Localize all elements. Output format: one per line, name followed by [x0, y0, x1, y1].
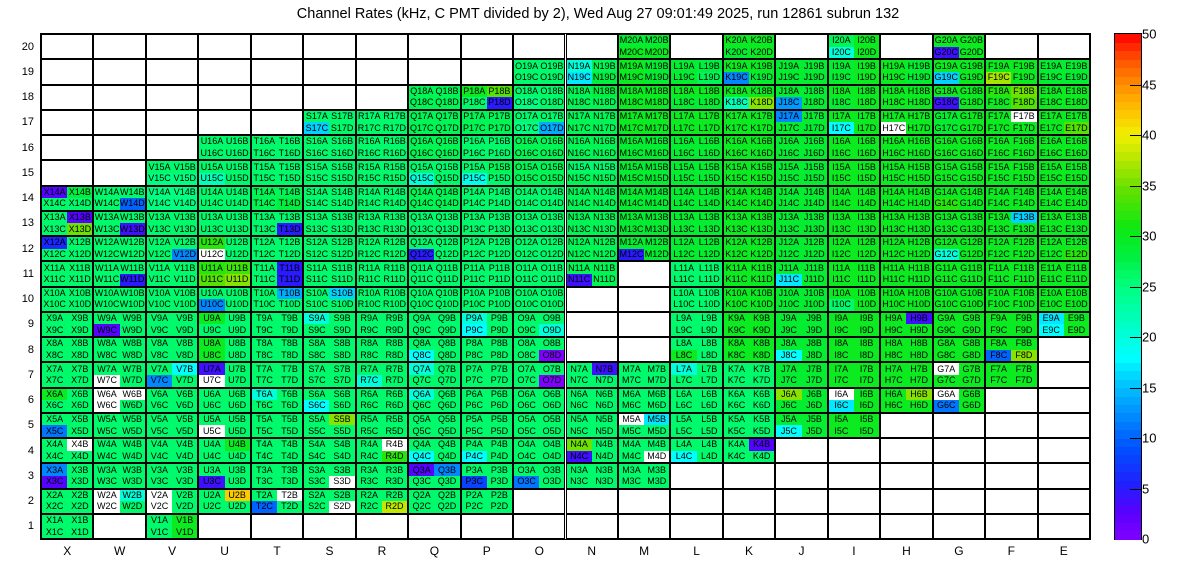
- channel-quadrant[interactable]: O5C: [514, 425, 539, 437]
- channel-quadrant[interactable]: K5A: [724, 414, 749, 426]
- channel-quadrant[interactable]: R8B: [382, 338, 407, 350]
- channel-quadrant[interactable]: K12A: [724, 237, 749, 249]
- channel-cell[interactable]: T14AT14BT14CT14D: [251, 186, 303, 211]
- channel-quadrant[interactable]: L16A: [671, 136, 696, 148]
- channel-cell[interactable]: T4AT4BT4CT4D: [251, 438, 303, 463]
- channel-quadrant[interactable]: R14B: [382, 187, 407, 199]
- channel-quadrant[interactable]: R9A: [357, 313, 382, 325]
- channel-quadrant[interactable]: R7B: [382, 363, 407, 375]
- channel-quadrant[interactable]: K11B: [749, 262, 774, 274]
- channel-quadrant[interactable]: G13D: [959, 223, 984, 235]
- channel-quadrant[interactable]: G10A: [934, 288, 959, 300]
- channel-quadrant[interactable]: M15D: [644, 173, 669, 185]
- channel-cell[interactable]: L18AL18BL18CL18D: [670, 85, 722, 110]
- channel-quadrant[interactable]: X1A: [42, 515, 67, 527]
- channel-quadrant[interactable]: E14B: [1064, 187, 1089, 199]
- channel-quadrant[interactable]: I5B: [854, 414, 879, 426]
- channel-quadrant[interactable]: P11B: [487, 262, 512, 274]
- channel-quadrant[interactable]: W3D: [120, 476, 145, 488]
- channel-quadrant[interactable]: W2D: [120, 501, 145, 513]
- channel-quadrant[interactable]: T11C: [252, 274, 277, 286]
- channel-quadrant[interactable]: Q11D: [434, 274, 459, 286]
- channel-quadrant[interactable]: G7B: [959, 363, 984, 375]
- channel-cell[interactable]: E19AE19BE19CE19D: [1038, 59, 1090, 84]
- channel-quadrant[interactable]: M14B: [644, 187, 669, 199]
- channel-quadrant[interactable]: O19C: [514, 72, 539, 84]
- channel-quadrant[interactable]: G17D: [959, 122, 984, 134]
- channel-cell[interactable]: W3AW3BW3CW3D: [93, 463, 145, 488]
- channel-cell[interactable]: O17AO17BO17CO17D: [513, 110, 565, 135]
- channel-quadrant[interactable]: F16A: [986, 136, 1011, 148]
- channel-quadrant[interactable]: P4A: [462, 439, 487, 451]
- channel-quadrant[interactable]: X7B: [67, 363, 92, 375]
- channel-quadrant[interactable]: N11A: [567, 262, 592, 274]
- channel-cell[interactable]: S6AS6BS6CS6D: [303, 388, 355, 413]
- channel-quadrant[interactable]: J17B: [802, 111, 827, 123]
- channel-quadrant[interactable]: S6B: [329, 389, 354, 401]
- channel-quadrant[interactable]: F18C: [986, 97, 1011, 109]
- channel-quadrant[interactable]: G10D: [959, 299, 984, 311]
- channel-quadrant[interactable]: V12D: [172, 249, 197, 261]
- channel-quadrant[interactable]: J17D: [802, 122, 827, 134]
- channel-cell[interactable]: Q16AQ16BQ16CQ16D: [408, 135, 460, 160]
- channel-quadrant[interactable]: R16B: [382, 136, 407, 148]
- channel-quadrant[interactable]: L4B: [697, 439, 722, 451]
- channel-quadrant[interactable]: F13A: [986, 212, 1011, 224]
- channel-cell[interactable]: L12AL12BL12CL12D: [670, 236, 722, 261]
- channel-quadrant[interactable]: P15D: [487, 173, 512, 185]
- channel-quadrant[interactable]: N12B: [592, 237, 617, 249]
- channel-quadrant[interactable]: Q7C: [409, 375, 434, 387]
- channel-quadrant[interactable]: R12A: [357, 237, 382, 249]
- channel-quadrant[interactable]: G17A: [934, 111, 959, 123]
- channel-quadrant[interactable]: G9C: [934, 324, 959, 336]
- channel-quadrant[interactable]: V4D: [172, 451, 197, 463]
- channel-quadrant[interactable]: W10D: [120, 299, 145, 311]
- channel-quadrant[interactable]: R13C: [357, 223, 382, 235]
- channel-quadrant[interactable]: O15A: [514, 161, 539, 173]
- channel-quadrant[interactable]: M20C: [619, 47, 644, 59]
- channel-quadrant[interactable]: P17B: [487, 111, 512, 123]
- channel-quadrant[interactable]: J7A: [776, 363, 801, 375]
- channel-quadrant[interactable]: W11C: [94, 274, 119, 286]
- channel-quadrant[interactable]: O12C: [514, 249, 539, 261]
- channel-quadrant[interactable]: S3C: [304, 476, 329, 488]
- channel-quadrant[interactable]: H10C: [881, 299, 906, 311]
- channel-cell[interactable]: U13AU13BU13CU13D: [198, 211, 250, 236]
- channel-quadrant[interactable]: O5B: [539, 414, 564, 426]
- channel-quadrant[interactable]: N13C: [567, 223, 592, 235]
- channel-quadrant[interactable]: F7C: [986, 375, 1011, 387]
- channel-quadrant[interactable]: T3B: [277, 464, 302, 476]
- channel-quadrant[interactable]: F9C: [986, 324, 1011, 336]
- channel-quadrant[interactable]: I7A: [829, 363, 854, 375]
- channel-quadrant[interactable]: U13D: [225, 223, 250, 235]
- channel-cell[interactable]: F16AF16BF16CF16D: [985, 135, 1037, 160]
- channel-quadrant[interactable]: L11B: [697, 262, 722, 274]
- channel-quadrant[interactable]: O14B: [539, 187, 564, 199]
- channel-quadrant[interactable]: M12A: [619, 237, 644, 249]
- channel-quadrant[interactable]: U5A: [199, 414, 224, 426]
- channel-quadrant[interactable]: I17C: [829, 122, 854, 134]
- channel-quadrant[interactable]: I12C: [829, 249, 854, 261]
- channel-quadrant[interactable]: U8B: [225, 338, 250, 350]
- channel-quadrant[interactable]: U10C: [199, 299, 224, 311]
- channel-quadrant[interactable]: L6C: [671, 400, 696, 412]
- channel-quadrant[interactable]: W10B: [120, 288, 145, 300]
- channel-quadrant[interactable]: T13D: [277, 223, 302, 235]
- channel-quadrant[interactable]: S5B: [329, 414, 354, 426]
- channel-quadrant[interactable]: I6C: [829, 400, 854, 412]
- channel-cell[interactable]: J11AJ11BJ11CJ11D: [775, 261, 827, 286]
- channel-quadrant[interactable]: O13C: [514, 223, 539, 235]
- channel-quadrant[interactable]: Q18B: [434, 86, 459, 98]
- channel-quadrant[interactable]: N18A: [567, 86, 592, 98]
- channel-cell[interactable]: T10AT10BT10CT10D: [251, 287, 303, 312]
- channel-quadrant[interactable]: H14A: [881, 187, 906, 199]
- channel-cell[interactable]: P15AP15BP15CP15D: [461, 160, 513, 185]
- channel-quadrant[interactable]: S10B: [329, 288, 354, 300]
- channel-quadrant[interactable]: G18B: [959, 86, 984, 98]
- channel-quadrant[interactable]: L6D: [697, 400, 722, 412]
- channel-quadrant[interactable]: J19C: [776, 72, 801, 84]
- channel-quadrant[interactable]: X13C: [42, 223, 67, 235]
- channel-quadrant[interactable]: G12D: [959, 249, 984, 261]
- channel-quadrant[interactable]: J16B: [802, 136, 827, 148]
- channel-quadrant[interactable]: F14A: [986, 187, 1011, 199]
- channel-quadrant[interactable]: I19B: [854, 60, 879, 72]
- channel-quadrant[interactable]: G11A: [934, 262, 959, 274]
- channel-quadrant[interactable]: V4A: [147, 439, 172, 451]
- channel-quadrant[interactable]: E17B: [1064, 111, 1089, 123]
- channel-cell[interactable]: S16AS16BS16CS16D: [303, 135, 355, 160]
- channel-quadrant[interactable]: I11C: [829, 274, 854, 286]
- channel-cell[interactable]: K14AK14BK14CK14D: [723, 186, 775, 211]
- channel-quadrant[interactable]: N15C: [567, 173, 592, 185]
- channel-quadrant[interactable]: O19A: [514, 60, 539, 72]
- channel-quadrant[interactable]: H19A: [881, 60, 906, 72]
- channel-quadrant[interactable]: Q9D: [434, 324, 459, 336]
- channel-quadrant[interactable]: U2C: [199, 501, 224, 513]
- channel-quadrant[interactable]: H14B: [906, 187, 931, 199]
- channel-quadrant[interactable]: Q3D: [434, 476, 459, 488]
- channel-quadrant[interactable]: V14A: [147, 187, 172, 199]
- channel-quadrant[interactable]: K17D: [749, 122, 774, 134]
- channel-quadrant[interactable]: O11C: [514, 274, 539, 286]
- channel-quadrant[interactable]: K20C: [724, 47, 749, 59]
- channel-cell[interactable]: E13AE13BE13CE13D: [1038, 211, 1090, 236]
- channel-quadrant[interactable]: S12D: [329, 249, 354, 261]
- channel-quadrant[interactable]: V1A: [147, 515, 172, 527]
- channel-quadrant[interactable]: T16C: [252, 148, 277, 160]
- channel-quadrant[interactable]: P4C: [462, 451, 487, 463]
- channel-cell[interactable]: R3AR3BR3CR3D: [356, 463, 408, 488]
- channel-quadrant[interactable]: L17B: [697, 111, 722, 123]
- channel-quadrant[interactable]: V10A: [147, 288, 172, 300]
- channel-cell[interactable]: K15AK15BK15CK15D: [723, 160, 775, 185]
- channel-cell[interactable]: N5AN5BN5CN5D: [566, 413, 618, 438]
- channel-quadrant[interactable]: N11B: [592, 262, 617, 274]
- channel-quadrant[interactable]: S17C: [304, 122, 329, 134]
- channel-quadrant[interactable]: F17A: [986, 111, 1011, 123]
- channel-quadrant[interactable]: J14C: [776, 198, 801, 210]
- channel-quadrant[interactable]: I5C: [829, 425, 854, 437]
- channel-cell[interactable]: K12AK12BK12CK12D: [723, 236, 775, 261]
- channel-quadrant[interactable]: O3D: [539, 476, 564, 488]
- channel-quadrant[interactable]: K7D: [749, 375, 774, 387]
- channel-quadrant[interactable]: G18D: [959, 97, 984, 109]
- channel-quadrant[interactable]: E18B: [1064, 86, 1089, 98]
- channel-quadrant[interactable]: W9A: [94, 313, 119, 325]
- channel-quadrant[interactable]: E12C: [1039, 249, 1064, 261]
- channel-quadrant[interactable]: S14A: [304, 187, 329, 199]
- channel-quadrant[interactable]: E10D: [1064, 299, 1089, 311]
- channel-quadrant[interactable]: J18B: [802, 86, 827, 98]
- channel-cell[interactable]: L19AL19BL19CL19D: [670, 59, 722, 84]
- channel-quadrant[interactable]: X8D: [67, 350, 92, 362]
- channel-quadrant[interactable]: R7C: [357, 375, 382, 387]
- channel-quadrant[interactable]: R4C: [357, 451, 382, 463]
- channel-quadrant[interactable]: N14D: [592, 198, 617, 210]
- channel-quadrant[interactable]: P3C: [462, 476, 487, 488]
- channel-quadrant[interactable]: T15C: [252, 173, 277, 185]
- channel-quadrant[interactable]: I6A: [829, 389, 854, 401]
- channel-quadrant[interactable]: U12D: [225, 249, 250, 261]
- channel-quadrant[interactable]: Q3B: [434, 464, 459, 476]
- channel-quadrant[interactable]: I11D: [854, 274, 879, 286]
- channel-quadrant[interactable]: X11B: [67, 262, 92, 274]
- channel-cell[interactable]: K11AK11BK11CK11D: [723, 261, 775, 286]
- channel-quadrant[interactable]: I13A: [829, 212, 854, 224]
- channel-quadrant[interactable]: G11B: [959, 262, 984, 274]
- channel-quadrant[interactable]: H18D: [906, 97, 931, 109]
- channel-quadrant[interactable]: J11D: [802, 274, 827, 286]
- channel-cell[interactable]: F12AF12BF12CF12D: [985, 236, 1037, 261]
- channel-quadrant[interactable]: N5A: [567, 414, 592, 426]
- channel-cell[interactable]: T5AT5BT5CT5D: [251, 413, 303, 438]
- channel-quadrant[interactable]: F13C: [986, 223, 1011, 235]
- channel-quadrant[interactable]: G20C: [934, 47, 959, 59]
- channel-cell[interactable]: W12AW12BW12CW12D: [93, 236, 145, 261]
- channel-quadrant[interactable]: R5B: [382, 414, 407, 426]
- channel-cell[interactable]: P2AP2BP2CP2D: [461, 489, 513, 514]
- channel-quadrant[interactable]: P13B: [487, 212, 512, 224]
- channel-quadrant[interactable]: X9D: [67, 324, 92, 336]
- channel-quadrant[interactable]: O18B: [539, 86, 564, 98]
- channel-quadrant[interactable]: O3C: [514, 476, 539, 488]
- channel-quadrant[interactable]: H19B: [906, 60, 931, 72]
- channel-quadrant[interactable]: O8A: [514, 338, 539, 350]
- channel-quadrant[interactable]: H16C: [881, 148, 906, 160]
- channel-quadrant[interactable]: G6C: [934, 400, 959, 412]
- channel-quadrant[interactable]: K18C: [724, 97, 749, 109]
- channel-cell[interactable]: G20AG20BG20CG20D: [933, 34, 985, 59]
- channel-quadrant[interactable]: R2D: [382, 501, 407, 513]
- channel-quadrant[interactable]: R6B: [382, 389, 407, 401]
- channel-cell[interactable]: H6AH6BH6CH6D: [880, 388, 932, 413]
- channel-cell[interactable]: J10AJ10BJ10CJ10D: [775, 287, 827, 312]
- channel-quadrant[interactable]: P14B: [487, 187, 512, 199]
- channel-quadrant[interactable]: P3A: [462, 464, 487, 476]
- channel-quadrant[interactable]: K13B: [749, 212, 774, 224]
- channel-quadrant[interactable]: F18B: [1011, 86, 1036, 98]
- channel-quadrant[interactable]: U6B: [225, 389, 250, 401]
- channel-quadrant[interactable]: U5D: [225, 425, 250, 437]
- channel-cell[interactable]: S17AS17BS17CS17D: [303, 110, 355, 135]
- channel-cell[interactable]: S13AS13BS13CS13D: [303, 211, 355, 236]
- channel-quadrant[interactable]: M4A: [619, 439, 644, 451]
- channel-quadrant[interactable]: X3D: [67, 476, 92, 488]
- channel-quadrant[interactable]: T6C: [252, 400, 277, 412]
- channel-quadrant[interactable]: S15B: [329, 161, 354, 173]
- channel-quadrant[interactable]: R13B: [382, 212, 407, 224]
- channel-quadrant[interactable]: M17D: [644, 122, 669, 134]
- channel-quadrant[interactable]: J5C: [776, 425, 801, 437]
- channel-quadrant[interactable]: K4A: [724, 439, 749, 451]
- channel-quadrant[interactable]: L18B: [697, 86, 722, 98]
- channel-quadrant[interactable]: H12C: [881, 249, 906, 261]
- channel-quadrant[interactable]: N18C: [567, 97, 592, 109]
- channel-cell[interactable]: L15AL15BL15CL15D: [670, 160, 722, 185]
- channel-cell[interactable]: N16AN16BN16CN16D: [566, 135, 618, 160]
- channel-quadrant[interactable]: G19B: [959, 60, 984, 72]
- channel-quadrant[interactable]: G14C: [934, 198, 959, 210]
- channel-cell[interactable]: L5AL5BL5CL5D: [670, 413, 722, 438]
- channel-quadrant[interactable]: O8C: [514, 350, 539, 362]
- channel-quadrant[interactable]: U8D: [225, 350, 250, 362]
- channel-cell[interactable]: J15AJ15BJ15CJ15D: [775, 160, 827, 185]
- channel-quadrant[interactable]: N3A: [567, 464, 592, 476]
- channel-quadrant[interactable]: V4B: [172, 439, 197, 451]
- channel-quadrant[interactable]: P5D: [487, 425, 512, 437]
- channel-quadrant[interactable]: S13A: [304, 212, 329, 224]
- channel-quadrant[interactable]: X12D: [67, 249, 92, 261]
- channel-quadrant[interactable]: J11C: [776, 274, 801, 286]
- channel-quadrant[interactable]: V9B: [172, 313, 197, 325]
- channel-quadrant[interactable]: T3C: [252, 476, 277, 488]
- channel-quadrant[interactable]: G14A: [934, 187, 959, 199]
- channel-quadrant[interactable]: P9D: [487, 324, 512, 336]
- channel-quadrant[interactable]: J13B: [802, 212, 827, 224]
- channel-cell[interactable]: S4AS4BS4CS4D: [303, 438, 355, 463]
- channel-cell[interactable]: O19AO19BO19CO19D: [513, 59, 565, 84]
- channel-quadrant[interactable]: G13B: [959, 212, 984, 224]
- channel-quadrant[interactable]: K15D: [749, 173, 774, 185]
- channel-quadrant[interactable]: L19B: [697, 60, 722, 72]
- channel-quadrant[interactable]: P18D: [487, 97, 512, 109]
- channel-cell[interactable]: V8AV8BV8CV8D: [146, 337, 198, 362]
- channel-quadrant[interactable]: N4C: [567, 451, 592, 463]
- channel-quadrant[interactable]: U15A: [199, 161, 224, 173]
- channel-quadrant[interactable]: O15C: [514, 173, 539, 185]
- channel-quadrant[interactable]: T11A: [252, 262, 277, 274]
- channel-quadrant[interactable]: U15B: [225, 161, 250, 173]
- channel-quadrant[interactable]: Q10B: [434, 288, 459, 300]
- channel-quadrant[interactable]: X8A: [42, 338, 67, 350]
- channel-quadrant[interactable]: G7C: [934, 375, 959, 387]
- channel-cell[interactable]: V4AV4BV4CV4D: [146, 438, 198, 463]
- channel-quadrant[interactable]: R16A: [357, 136, 382, 148]
- channel-quadrant[interactable]: Q5D: [434, 425, 459, 437]
- channel-quadrant[interactable]: V1B: [172, 515, 197, 527]
- channel-quadrant[interactable]: O12B: [539, 237, 564, 249]
- channel-cell[interactable]: V9AV9BV9CV9D: [146, 312, 198, 337]
- channel-quadrant[interactable]: Q4C: [409, 451, 434, 463]
- channel-quadrant[interactable]: U11C: [199, 274, 224, 286]
- channel-quadrant[interactable]: Q8B: [434, 338, 459, 350]
- channel-quadrant[interactable]: I18B: [854, 86, 879, 98]
- channel-quadrant[interactable]: R8C: [357, 350, 382, 362]
- channel-cell[interactable]: E16AE16BE16CE16D: [1038, 135, 1090, 160]
- channel-cell[interactable]: P16AP16BP16CP16D: [461, 135, 513, 160]
- channel-cell[interactable]: O16AO16BO16CO16D: [513, 135, 565, 160]
- channel-quadrant[interactable]: K15A: [724, 161, 749, 173]
- channel-quadrant[interactable]: L14B: [697, 187, 722, 199]
- channel-quadrant[interactable]: H11D: [906, 274, 931, 286]
- channel-cell[interactable]: G19AG19BG19CG19D: [933, 59, 985, 84]
- channel-quadrant[interactable]: Q13D: [434, 223, 459, 235]
- channel-cell[interactable]: X12AX12BX12CX12D: [41, 236, 93, 261]
- channel-quadrant[interactable]: F16D: [1011, 148, 1036, 160]
- channel-quadrant[interactable]: I14C: [829, 198, 854, 210]
- channel-quadrant[interactable]: N14B: [592, 187, 617, 199]
- channel-quadrant[interactable]: Q13B: [434, 212, 459, 224]
- channel-cell[interactable]: U9AU9BU9CU9D: [198, 312, 250, 337]
- channel-cell[interactable]: Q5AQ5BQ5CQ5D: [408, 413, 460, 438]
- channel-cell[interactable]: M16AM16BM16CM16D: [618, 135, 670, 160]
- channel-quadrant[interactable]: Q4D: [434, 451, 459, 463]
- channel-quadrant[interactable]: G16C: [934, 148, 959, 160]
- channel-quadrant[interactable]: T5D: [277, 425, 302, 437]
- channel-quadrant[interactable]: V5D: [172, 425, 197, 437]
- channel-quadrant[interactable]: K14B: [749, 187, 774, 199]
- channel-quadrant[interactable]: P7A: [462, 363, 487, 375]
- channel-quadrant[interactable]: S14B: [329, 187, 354, 199]
- channel-quadrant[interactable]: W11D: [120, 274, 145, 286]
- channel-quadrant[interactable]: U8A: [199, 338, 224, 350]
- channel-quadrant[interactable]: G15A: [934, 161, 959, 173]
- channel-quadrant[interactable]: L14A: [671, 187, 696, 199]
- channel-cell[interactable]: Q8AQ8BQ8CQ8D: [408, 337, 460, 362]
- channel-quadrant[interactable]: F15A: [986, 161, 1011, 173]
- channel-quadrant[interactable]: W8D: [120, 350, 145, 362]
- channel-quadrant[interactable]: Q10C: [409, 299, 434, 311]
- channel-cell[interactable]: P3AP3BP3CP3D: [461, 463, 513, 488]
- channel-cell[interactable]: L9AL9BL9CL9D: [670, 312, 722, 337]
- channel-quadrant[interactable]: X5B: [67, 414, 92, 426]
- channel-cell[interactable]: J13AJ13BJ13CJ13D: [775, 211, 827, 236]
- channel-quadrant[interactable]: M12D: [644, 249, 669, 261]
- channel-quadrant[interactable]: J11A: [776, 262, 801, 274]
- channel-quadrant[interactable]: J19D: [802, 72, 827, 84]
- channel-quadrant[interactable]: P3D: [487, 476, 512, 488]
- channel-quadrant[interactable]: F8B: [1011, 338, 1036, 350]
- channel-quadrant[interactable]: S10A: [304, 288, 329, 300]
- channel-quadrant[interactable]: V13D: [172, 223, 197, 235]
- channel-cell[interactable]: N18AN18BN18CN18D: [566, 85, 618, 110]
- channel-cell[interactable]: R7AR7BR7CR7D: [356, 362, 408, 387]
- channel-quadrant[interactable]: N7A: [567, 363, 592, 375]
- channel-quadrant[interactable]: R6A: [357, 389, 382, 401]
- channel-quadrant[interactable]: F19A: [986, 60, 1011, 72]
- channel-cell[interactable]: I14AI14BI14CI14D: [828, 186, 880, 211]
- channel-quadrant[interactable]: U4D: [225, 451, 250, 463]
- channel-quadrant[interactable]: W14D: [120, 198, 145, 210]
- channel-quadrant[interactable]: Q6D: [434, 400, 459, 412]
- channel-quadrant[interactable]: X4C: [42, 451, 67, 463]
- channel-quadrant[interactable]: X1B: [67, 515, 92, 527]
- channel-quadrant[interactable]: M6D: [644, 400, 669, 412]
